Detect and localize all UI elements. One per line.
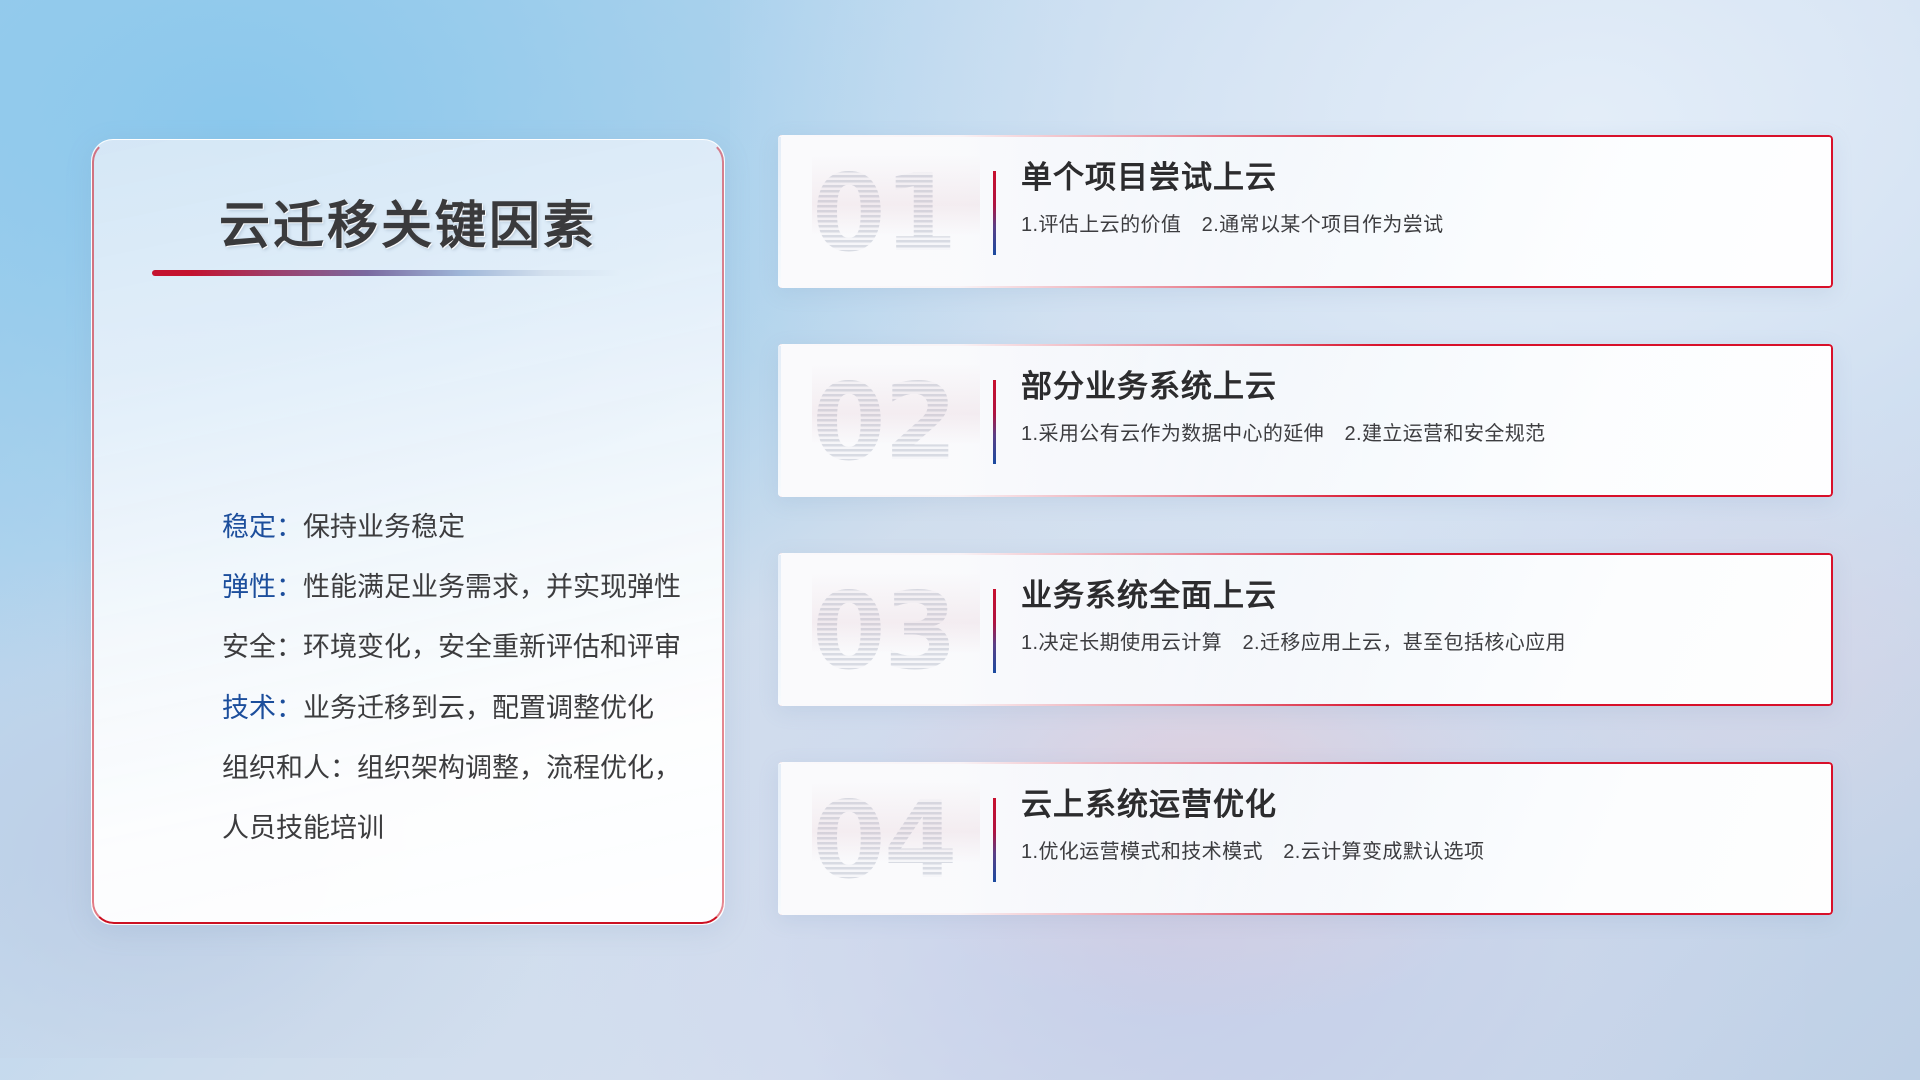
card-divider-bar <box>993 798 996 882</box>
list-item-text: 业务迁移到云，配置调整优化 <box>303 693 654 723</box>
list-item-text: 保持业务稳定 <box>303 512 465 542</box>
stage-card-03[interactable]: 03 业务系统全面上云 1.决定长期使用云计算 2.迁移应用上云，甚至包括核心应… <box>778 553 1833 706</box>
stage-card-04[interactable]: 04 云上系统运营优化 1.优化运营模式和技术模式 2.云计算变成默认选项 <box>778 762 1833 915</box>
card-body: 云上系统运营优化 1.优化运营模式和技术模式 2.云计算变成默认选项 <box>1021 784 1807 865</box>
card-title: 部分业务系统上云 <box>1021 366 1807 408</box>
card-subtitle: 1.决定长期使用云计算 2.迁移应用上云，甚至包括核心应用 <box>1021 630 1807 656</box>
list-item: 安全：环境变化，安全重新评估和评审 <box>222 632 690 662</box>
card-title: 云上系统运营优化 <box>1021 784 1807 826</box>
stage-number-02: 02 <box>812 364 980 482</box>
card-body: 单个项目尝试上云 1.评估上云的价值 2.通常以某个项目作为尝试 <box>1021 157 1807 238</box>
card-title: 单个项目尝试上云 <box>1021 157 1807 199</box>
list-item-text: 环境变化，安全重新评估和评审 <box>303 632 681 662</box>
card-subtitle: 1.优化运营模式和技术模式 2.云计算变成默认选项 <box>1021 839 1807 865</box>
list-item-label: 组织和人： <box>222 753 357 783</box>
key-factors-panel: 云迁移关键因素 稳定：保持业务稳定 弹性：性能满足业务需求，并实现弹性 安全：环… <box>91 139 725 925</box>
stage-number-03: 03 <box>812 573 980 691</box>
slide-content: 云迁移关键因素 稳定：保持业务稳定 弹性：性能满足业务需求，并实现弹性 安全：环… <box>0 0 1920 1080</box>
key-factors-list: 稳定：保持业务稳定 弹性：性能满足业务需求，并实现弹性 安全：环境变化，安全重新… <box>222 512 690 843</box>
page-title: 云迁移关键因素 <box>92 184 724 258</box>
stage-number-01: 01 <box>812 155 980 273</box>
list-item-label: 稳定： <box>222 512 303 542</box>
card-body: 部分业务系统上云 1.采用公有云作为数据中心的延伸 2.建立运营和安全规范 <box>1021 366 1807 447</box>
list-item-text: 性能满足业务需求，并实现弹性 <box>303 572 681 602</box>
list-item-label: 弹性： <box>222 572 303 602</box>
list-item: 技术：业务迁移到云，配置调整优化 <box>222 693 690 723</box>
title-underline-rule <box>152 270 620 276</box>
list-item-label: 技术： <box>222 693 303 723</box>
list-item: 稳定：保持业务稳定 <box>222 512 690 542</box>
stage-number-04: 04 <box>812 782 980 900</box>
stage-card-02[interactable]: 02 部分业务系统上云 1.采用公有云作为数据中心的延伸 2.建立运营和安全规范 <box>778 344 1833 497</box>
list-item: 弹性：性能满足业务需求，并实现弹性 <box>222 572 690 602</box>
list-item-continuation: 人员技能培训 <box>222 813 690 843</box>
card-subtitle: 1.评估上云的价值 2.通常以某个项目作为尝试 <box>1021 212 1807 238</box>
list-item-text: 组织架构调整，流程优化， <box>357 753 681 783</box>
card-subtitle: 1.采用公有云作为数据中心的延伸 2.建立运营和安全规范 <box>1021 421 1807 447</box>
card-divider-bar <box>993 171 996 255</box>
card-divider-bar <box>993 380 996 464</box>
stage-card-01[interactable]: 01 单个项目尝试上云 1.评估上云的价值 2.通常以某个项目作为尝试 <box>778 135 1833 288</box>
card-body: 业务系统全面上云 1.决定长期使用云计算 2.迁移应用上云，甚至包括核心应用 <box>1021 575 1807 656</box>
card-divider-bar <box>993 589 996 673</box>
migration-stages-list: 01 单个项目尝试上云 1.评估上云的价值 2.通常以某个项目作为尝试 02 部… <box>778 135 1833 971</box>
list-item: 组织和人：组织架构调整，流程优化， <box>222 753 690 783</box>
card-title: 业务系统全面上云 <box>1021 575 1807 617</box>
list-item-label: 安全： <box>222 632 303 662</box>
